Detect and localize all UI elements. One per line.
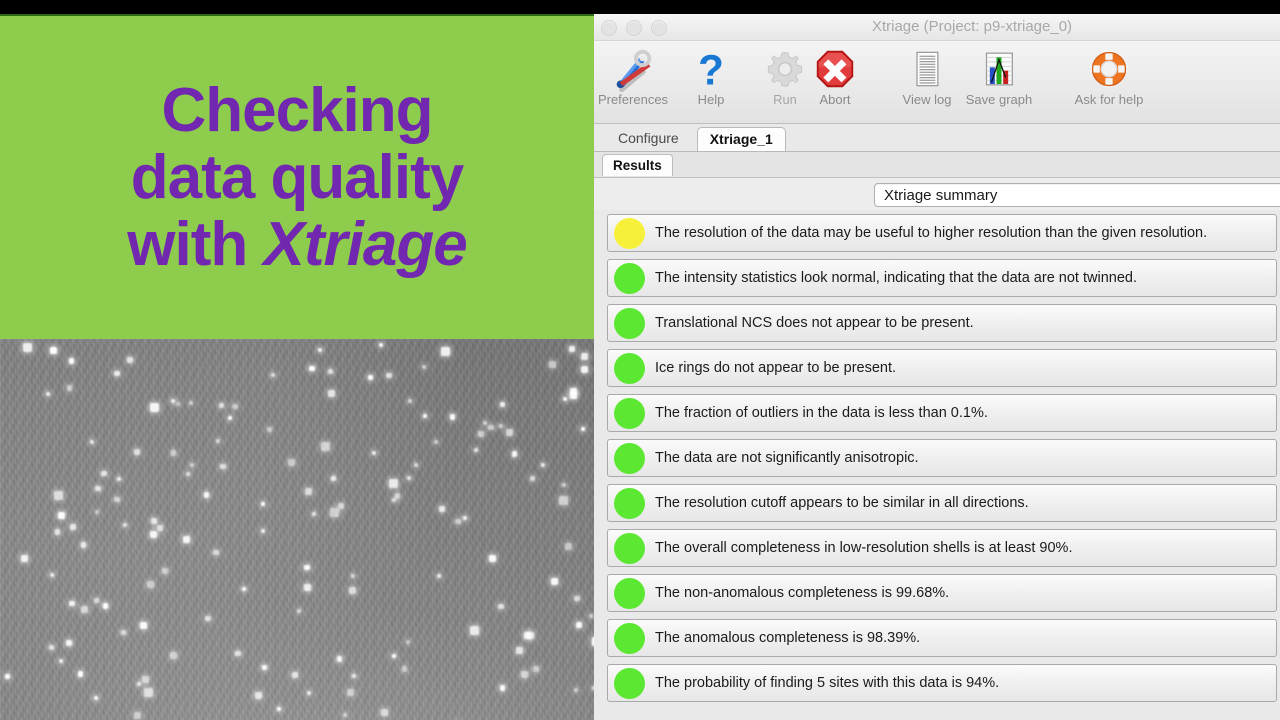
diffraction-spot bbox=[474, 448, 478, 452]
title-line-1: Checking bbox=[161, 79, 432, 142]
diffraction-spot bbox=[134, 712, 141, 719]
sub-tab-bar: Results bbox=[594, 152, 1280, 178]
status-badge-warn bbox=[614, 218, 645, 249]
xtriage-window: Xtriage (Project: p9-xtriage_0) Preferen… bbox=[594, 14, 1280, 720]
diffraction-spot bbox=[69, 358, 75, 364]
diffraction-spot bbox=[144, 688, 153, 697]
result-text: The non-anomalous completeness is 99.68%… bbox=[655, 585, 949, 601]
diffraction-spot bbox=[137, 682, 141, 686]
ask-for-help-button[interactable]: Ask for help bbox=[1066, 45, 1152, 107]
diffraction-spot bbox=[423, 414, 427, 418]
diffraction-spot bbox=[478, 431, 484, 437]
diffraction-spot bbox=[381, 709, 388, 716]
diffraction-spot bbox=[50, 347, 57, 354]
diffraction-spot bbox=[441, 347, 450, 356]
title-line-2: data quality bbox=[131, 146, 464, 209]
diffraction-spot bbox=[21, 555, 28, 562]
diffraction-spot bbox=[127, 357, 133, 363]
diffraction-spot bbox=[506, 429, 513, 436]
diffraction-spot bbox=[190, 463, 194, 467]
diffraction-spot bbox=[103, 603, 109, 609]
xtriage-summary-select[interactable]: Xtriage summary bbox=[874, 183, 1280, 207]
diffraction-spot bbox=[562, 483, 566, 487]
diffraction-spot bbox=[328, 390, 335, 397]
diffraction-spot bbox=[189, 401, 193, 405]
results-list: The resolution of the data may be useful… bbox=[594, 210, 1280, 720]
diffraction-spot bbox=[235, 651, 241, 657]
slide-panel: Checking data quality with Xtriage bbox=[0, 14, 594, 720]
result-text: The probability of finding 5 sites with … bbox=[655, 675, 999, 691]
diffraction-spot bbox=[343, 713, 347, 717]
diffraction-spot bbox=[114, 371, 120, 377]
diffraction-spot bbox=[349, 587, 356, 594]
diffraction-spot bbox=[389, 479, 398, 488]
diffraction-spot bbox=[23, 343, 32, 352]
diffraction-spot bbox=[292, 672, 298, 678]
title-line-3-prefix: with bbox=[127, 210, 263, 279]
diffraction-spot bbox=[434, 440, 438, 444]
subtab-results[interactable]: Results bbox=[602, 154, 673, 176]
result-text: The overall completeness in low-resoluti… bbox=[655, 540, 1072, 556]
screen-root: Checking data quality with Xtriage Xtria… bbox=[0, 0, 1280, 720]
diffraction-spot bbox=[55, 529, 61, 535]
window-titlebar: Xtriage (Project: p9-xtriage_0) bbox=[594, 14, 1280, 41]
diffraction-spot bbox=[309, 366, 315, 372]
diffraction-spot bbox=[551, 578, 558, 585]
diffraction-spot bbox=[581, 353, 588, 360]
document-icon bbox=[907, 45, 947, 93]
view-log-label: View log bbox=[903, 92, 952, 107]
letterbox-top bbox=[0, 0, 1280, 14]
result-row[interactable]: Ice rings do not appear to be present. bbox=[607, 349, 1277, 387]
result-text: Ice rings do not appear to be present. bbox=[655, 360, 896, 376]
result-text: The resolution cutoff appears to be simi… bbox=[655, 495, 1029, 511]
diffraction-image bbox=[0, 339, 594, 720]
preferences-button[interactable]: Preferences bbox=[594, 45, 676, 107]
diffraction-spot bbox=[94, 696, 98, 700]
diffraction-spot bbox=[406, 640, 410, 644]
diffraction-spot bbox=[500, 685, 506, 691]
status-badge-ok bbox=[614, 578, 645, 609]
diffraction-spot bbox=[213, 550, 219, 556]
diffraction-spot bbox=[563, 397, 567, 401]
diffraction-spot bbox=[489, 555, 496, 562]
diffraction-spot bbox=[157, 525, 163, 531]
diffraction-spot bbox=[81, 606, 88, 613]
diffraction-spot bbox=[267, 427, 273, 433]
diffraction-spot bbox=[288, 459, 295, 466]
bar-chart-icon bbox=[979, 45, 1019, 93]
diffraction-spot bbox=[488, 425, 494, 431]
result-row[interactable]: The anomalous completeness is 98.39%. bbox=[607, 619, 1277, 657]
title-card: Checking data quality with Xtriage bbox=[0, 14, 594, 339]
diffraction-spot bbox=[307, 691, 311, 695]
result-row[interactable]: The overall completeness in low-resoluti… bbox=[607, 529, 1277, 567]
diffraction-spot bbox=[255, 692, 262, 699]
diffraction-spot bbox=[581, 427, 585, 431]
status-badge-ok bbox=[614, 668, 645, 699]
diffraction-spot bbox=[70, 524, 76, 530]
diffraction-spot bbox=[533, 666, 539, 672]
diffraction-spot bbox=[101, 471, 107, 477]
diffraction-spot bbox=[271, 373, 275, 377]
diffraction-spot bbox=[162, 568, 168, 574]
diffraction-spot bbox=[368, 375, 374, 381]
result-text: The anomalous completeness is 98.39%. bbox=[655, 630, 920, 646]
result-row[interactable]: The probability of finding 5 sites with … bbox=[607, 664, 1277, 702]
diffraction-spot bbox=[521, 671, 528, 678]
diffraction-spot bbox=[50, 573, 54, 577]
diffraction-spot bbox=[205, 616, 211, 622]
status-badge-ok bbox=[614, 308, 645, 339]
diffraction-spot bbox=[90, 440, 94, 444]
diffraction-spot bbox=[455, 519, 461, 525]
status-badge-ok bbox=[614, 533, 645, 564]
result-row[interactable]: The fraction of outliers in the data is … bbox=[607, 394, 1277, 432]
diffraction-spot bbox=[402, 666, 408, 672]
diffraction-spot bbox=[171, 450, 177, 456]
diffraction-spot bbox=[147, 581, 154, 588]
diffraction-spot bbox=[470, 626, 479, 635]
diffraction-spot bbox=[305, 488, 312, 495]
diffraction-spot bbox=[437, 574, 441, 578]
diffraction-spot bbox=[338, 503, 344, 509]
tab-xtriage-1[interactable]: Xtriage_1 bbox=[697, 127, 786, 151]
diffraction-spot bbox=[261, 529, 265, 533]
abort-label: Abort bbox=[819, 92, 850, 107]
diffraction-spot bbox=[67, 385, 73, 391]
lifebuoy-icon bbox=[1087, 45, 1131, 93]
status-badge-ok bbox=[614, 398, 645, 429]
save-graph-button[interactable]: Save graph bbox=[956, 45, 1042, 107]
diffraction-spot bbox=[541, 463, 545, 467]
title-emphasis: Xtriage bbox=[264, 210, 467, 279]
title-line-3: with Xtriage bbox=[127, 213, 466, 276]
svg-text:?: ? bbox=[698, 46, 724, 92]
diffraction-spot bbox=[463, 516, 467, 520]
result-text: The intensity statistics look normal, in… bbox=[655, 270, 1137, 286]
diffraction-spot bbox=[574, 596, 580, 602]
diffraction-spot bbox=[379, 343, 383, 347]
diffraction-spot bbox=[450, 414, 456, 420]
result-row[interactable]: The data are not significantly anisotrop… bbox=[607, 439, 1277, 477]
diffraction-spot bbox=[422, 365, 426, 369]
diffraction-spot bbox=[232, 404, 238, 410]
result-text: The data are not significantly anisotrop… bbox=[655, 450, 919, 466]
diffraction-spot bbox=[171, 399, 175, 403]
diffraction-spot bbox=[527, 632, 534, 639]
diffraction-spot bbox=[134, 449, 140, 455]
diffraction-spot bbox=[565, 543, 572, 550]
diffraction-spot bbox=[66, 640, 72, 646]
result-row[interactable]: The intensity statistics look normal, in… bbox=[607, 259, 1277, 297]
diffraction-spot bbox=[330, 508, 339, 517]
diffraction-spot bbox=[589, 614, 593, 618]
diffraction-spot bbox=[78, 671, 84, 677]
diffraction-spot bbox=[312, 512, 316, 516]
diffraction-spot bbox=[297, 609, 301, 613]
diffraction-spot bbox=[142, 676, 149, 683]
tools-icon bbox=[610, 45, 656, 93]
diffraction-spot bbox=[59, 659, 63, 663]
diffraction-spot bbox=[261, 502, 265, 506]
diffraction-spot bbox=[123, 523, 127, 527]
diffraction-spot bbox=[220, 464, 226, 470]
diffraction-spot bbox=[576, 622, 582, 628]
diffraction-spot bbox=[140, 622, 147, 629]
diffraction-spot bbox=[95, 486, 101, 492]
diffraction-spot bbox=[483, 421, 487, 425]
diffraction-spot bbox=[170, 652, 177, 659]
result-text: Translational NCS does not appear to be … bbox=[655, 315, 974, 331]
diffraction-spot bbox=[54, 491, 63, 500]
diffraction-spot bbox=[216, 439, 220, 443]
toolbar: Preferences?HelpRunAbortView logSave gra… bbox=[594, 41, 1280, 124]
diffraction-spot bbox=[516, 647, 523, 654]
abort-button[interactable]: Abort bbox=[792, 45, 878, 107]
diffraction-spot bbox=[69, 601, 75, 607]
save-graph-label: Save graph bbox=[966, 92, 1033, 107]
status-badge-ok bbox=[614, 488, 645, 519]
diffraction-streaks bbox=[0, 339, 594, 720]
diffraction-spot bbox=[117, 477, 121, 481]
diffraction-spot bbox=[304, 584, 311, 591]
diffraction-spot bbox=[549, 361, 556, 368]
diffraction-spot bbox=[81, 542, 87, 548]
result-row[interactable]: The resolution cutoff appears to be simi… bbox=[607, 484, 1277, 522]
diffraction-spot bbox=[321, 442, 330, 451]
diffraction-spot bbox=[337, 656, 343, 662]
diffraction-spot bbox=[183, 536, 190, 543]
status-badge-ok bbox=[614, 353, 645, 384]
result-row[interactable]: Translational NCS does not appear to be … bbox=[607, 304, 1277, 342]
status-badge-ok bbox=[614, 623, 645, 654]
result-row[interactable]: The resolution of the data may be useful… bbox=[607, 214, 1277, 252]
diffraction-spot bbox=[439, 506, 445, 512]
diffraction-spot bbox=[58, 512, 65, 519]
status-badge-ok bbox=[614, 263, 645, 294]
diffraction-spot bbox=[498, 604, 504, 610]
diffraction-spot bbox=[559, 496, 568, 505]
diffraction-spot bbox=[95, 510, 99, 514]
result-text: The resolution of the data may be useful… bbox=[655, 225, 1207, 241]
combo-row: Xtriage summary bbox=[594, 178, 1280, 214]
result-row[interactable]: The non-anomalous completeness is 99.68%… bbox=[607, 574, 1277, 612]
window-title: Xtriage (Project: p9-xtriage_0) bbox=[594, 18, 1280, 35]
tab-configure[interactable]: Configure bbox=[606, 127, 691, 151]
diffraction-spot bbox=[94, 598, 100, 604]
ask-for-help-label: Ask for help bbox=[1075, 92, 1144, 107]
help-label: Help bbox=[698, 92, 725, 107]
diffraction-spot bbox=[151, 518, 157, 524]
diffraction-spot bbox=[304, 565, 310, 571]
diffraction-spot bbox=[150, 531, 157, 538]
status-badge-ok bbox=[614, 443, 645, 474]
diffraction-spot bbox=[204, 492, 210, 498]
diffraction-spot bbox=[318, 348, 322, 352]
diffraction-spot bbox=[114, 497, 120, 503]
diffraction-spot bbox=[150, 403, 159, 412]
stop-icon bbox=[812, 45, 858, 93]
diffraction-spot bbox=[386, 373, 392, 379]
result-text: The fraction of outliers in the data is … bbox=[655, 405, 988, 421]
preferences-label: Preferences bbox=[598, 92, 668, 107]
diffraction-spot bbox=[570, 388, 577, 395]
diffraction-spot bbox=[512, 451, 518, 457]
diffraction-spot bbox=[581, 366, 588, 373]
diffraction-spot bbox=[392, 654, 396, 658]
diffraction-spot bbox=[347, 689, 354, 696]
diffraction-spot bbox=[49, 645, 55, 651]
diffraction-spot bbox=[392, 498, 396, 502]
diffraction-spot bbox=[530, 476, 536, 482]
tab-bar: ConfigureXtriage_1 bbox=[594, 124, 1280, 152]
diffraction-spot bbox=[569, 346, 575, 352]
question-icon: ? bbox=[688, 45, 734, 93]
diffraction-spot bbox=[186, 472, 190, 476]
